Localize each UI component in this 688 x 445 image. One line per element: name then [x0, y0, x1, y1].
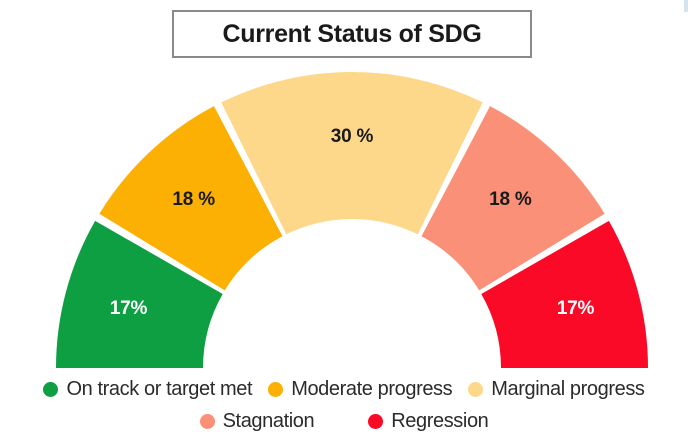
gauge-slice-label: 18 %: [489, 189, 532, 210]
legend-dot-moderate: [268, 382, 283, 397]
legend-item-label: On track or target met: [66, 378, 252, 401]
legend-item-label: Regression: [391, 410, 488, 433]
gauge-slice-label: 18 %: [172, 189, 215, 210]
gauge-slice-group: [56, 72, 648, 368]
legend-item[interactable]: Moderate progress: [268, 378, 452, 401]
gauge-slice-label: 30 %: [331, 126, 374, 147]
gauge-slice-label: 17%: [110, 298, 148, 319]
legend-item-label: Moderate progress: [291, 378, 452, 401]
legend-dot-marginal: [468, 382, 483, 397]
legend-item[interactable]: On track or target met: [43, 378, 252, 401]
legend-row-2: StagnationRegression: [0, 410, 688, 433]
legend-dot-stagnation: [200, 414, 215, 429]
sdg-status-chart: Current Status of SDG 17%18 %30 %18 %17%…: [0, 0, 688, 445]
gauge-slice-label: 17%: [557, 298, 595, 319]
legend-dot-on-track: [43, 382, 58, 397]
legend-item-label: Marginal progress: [491, 378, 644, 401]
corner-artifact: [684, 0, 688, 12]
legend-dot-regression: [368, 414, 383, 429]
legend-item[interactable]: Marginal progress: [468, 378, 644, 401]
chart-legend: On track or target metModerate progressM…: [0, 378, 688, 433]
legend-item[interactable]: Stagnation: [200, 410, 315, 433]
legend-item-label: Stagnation: [223, 410, 315, 433]
legend-row-1: On track or target metModerate progressM…: [0, 378, 688, 401]
legend-item[interactable]: Regression: [368, 410, 488, 433]
